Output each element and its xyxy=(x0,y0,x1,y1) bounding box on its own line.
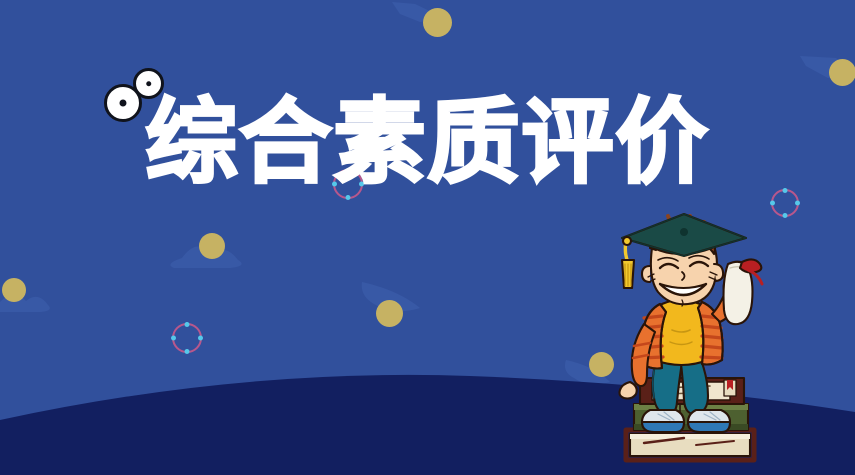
slide-canvas: 综合素质评价 xyxy=(0,0,855,475)
atom-ring-title xyxy=(333,169,363,199)
atom-ring-lower xyxy=(172,323,202,353)
graduate-boy-illustration xyxy=(592,212,792,475)
